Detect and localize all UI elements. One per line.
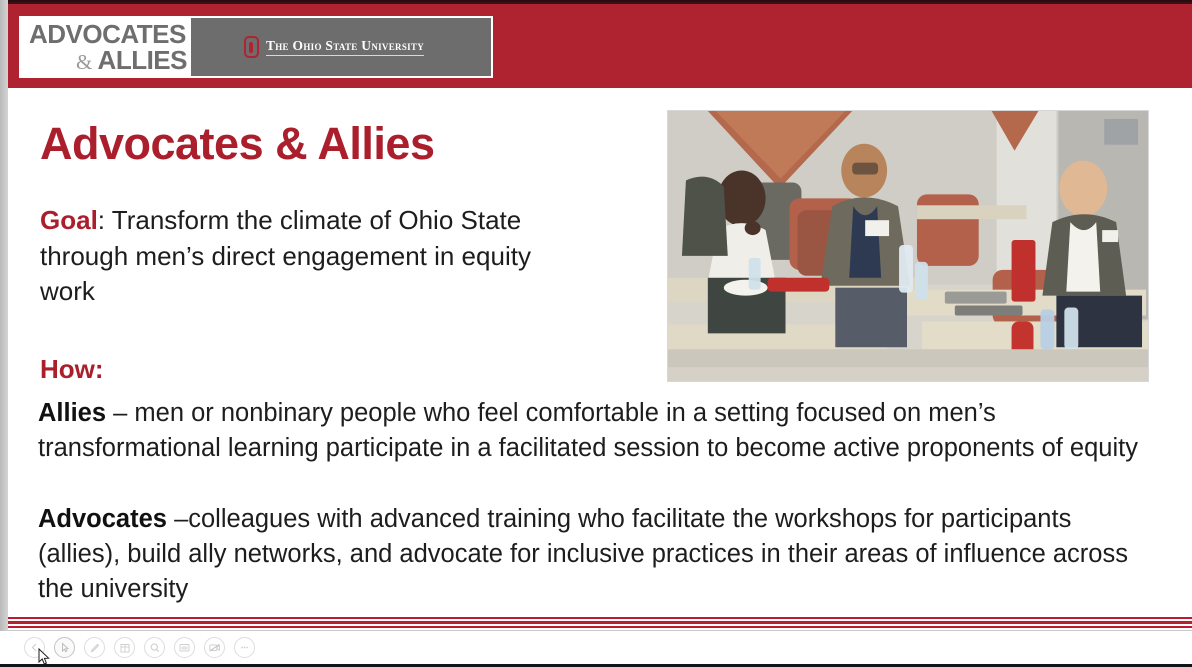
- osu-o-block-icon: [244, 36, 259, 58]
- goal-statement: Goal: Transform the climate of Ohio Stat…: [40, 203, 560, 310]
- advocates-allies-logo: ADVOCATES & ALLIES: [21, 18, 191, 76]
- pen-icon: [89, 642, 101, 654]
- advocates-definition: Advocates –colleagues with advanced trai…: [38, 502, 1156, 608]
- advocates-text: –colleagues with advanced training who f…: [38, 505, 1128, 603]
- allies-term: Allies: [38, 399, 106, 427]
- cursor-pointer-icon: [59, 642, 70, 653]
- advocates-term: Advocates: [38, 505, 167, 533]
- presentation-viewer: ADVOCATES & ALLIES The Ohio State Univer…: [0, 0, 1192, 667]
- screen-icon: [178, 641, 191, 654]
- logo-line-advocates: ADVOCATES: [29, 21, 187, 47]
- goal-text: Transform the climate of Ohio State thro…: [40, 205, 531, 306]
- slide-header-banner: ADVOCATES & ALLIES The Ohio State Univer…: [8, 2, 1192, 88]
- osu-wordmark: The Ohio State University: [266, 38, 424, 56]
- allies-text: – men or nonbinary people who feel comfo…: [38, 399, 1138, 462]
- previous-slide-button[interactable]: [24, 637, 45, 658]
- more-options-button[interactable]: [234, 637, 255, 658]
- header-logo-group: ADVOCATES & ALLIES The Ohio State Univer…: [19, 16, 493, 78]
- logo-allies-text: ALLIES: [98, 45, 187, 75]
- osu-logo-bar: The Ohio State University: [191, 18, 491, 76]
- video-off-icon: [208, 641, 221, 654]
- magnifier-icon: [149, 642, 161, 654]
- bottom-decorative-rules: [8, 617, 1192, 629]
- goal-label: Goal: [40, 205, 98, 235]
- ellipsis-icon: [238, 641, 251, 654]
- how-label: How:: [40, 354, 104, 385]
- back-arrow-icon: [29, 642, 40, 653]
- stop-video-button[interactable]: [204, 637, 225, 658]
- present-screen-button[interactable]: [174, 637, 195, 658]
- goal-separator: :: [98, 205, 105, 235]
- logo-ampersand: &: [76, 50, 92, 74]
- slide-canvas[interactable]: ADVOCATES & ALLIES The Ohio State Univer…: [8, 2, 1192, 630]
- pen-tool-button[interactable]: [84, 637, 105, 658]
- workshop-photo: [667, 110, 1149, 382]
- logo-line-allies: & ALLIES: [29, 47, 187, 73]
- slide-body: Advocates & Allies Goal: Transform the c…: [8, 90, 1192, 630]
- presentation-toolbar[interactable]: [0, 631, 1192, 667]
- page-title: Advocates & Allies: [40, 118, 434, 170]
- grid-slides-icon: [119, 642, 131, 654]
- workshop-photo-graphic: [668, 111, 1148, 381]
- pointer-tool-button[interactable]: [54, 637, 75, 658]
- allies-definition: Allies – men or nonbinary people who fee…: [38, 396, 1156, 466]
- left-gutter: [0, 0, 8, 631]
- zoom-tool-button[interactable]: [144, 637, 165, 658]
- slides-grid-button[interactable]: [114, 637, 135, 658]
